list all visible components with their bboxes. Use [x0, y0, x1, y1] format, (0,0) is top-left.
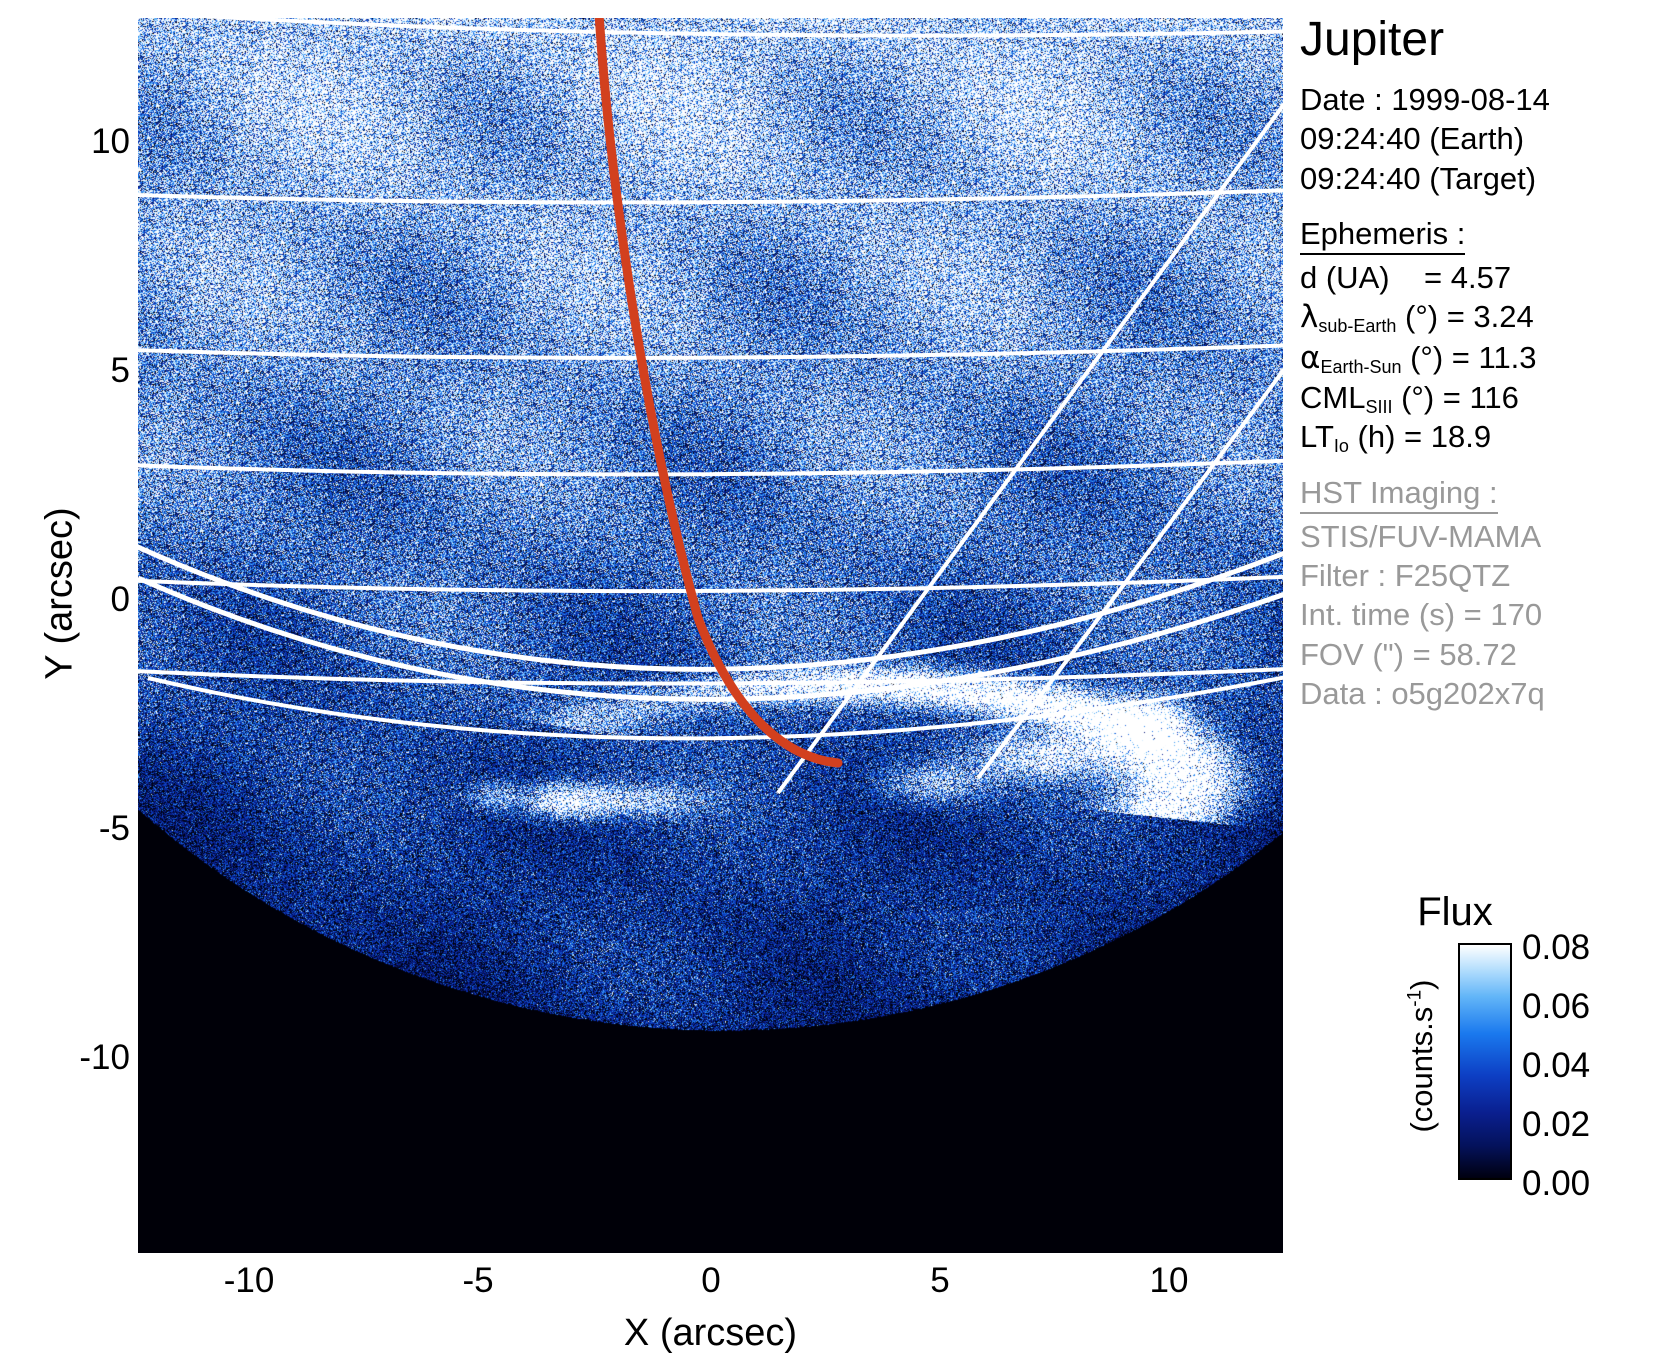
ephemeris-row-lambda: λsub-Earth (°) = 3.24	[1300, 297, 1672, 337]
coordinate-overlay	[138, 18, 1283, 1253]
colorbar-unit-text: (counts.s	[1404, 1007, 1439, 1133]
hst-filter: Filter : F25QTZ	[1300, 556, 1672, 595]
ytick-label-neg10: -10	[79, 1040, 130, 1075]
colorbar-block: Flux (counts.s-1) 0.08 0.06 0.04 0.02 0.…	[1300, 890, 1677, 1210]
colorbar-gradient	[1458, 943, 1512, 1180]
ephemeris-value-cml: = 116	[1443, 380, 1519, 415]
ephemeris-sub-cml: SIII	[1365, 397, 1392, 417]
ephemeris-unit-lt: (h)	[1358, 419, 1396, 454]
ephemeris-row-lt: LTIo (h) = 18.9	[1300, 417, 1672, 456]
colorbar-tick-0.08: 0.08	[1522, 930, 1590, 965]
ephemeris-value-d: = 4.57	[1424, 260, 1511, 295]
x-axis-label: X (arcsec)	[138, 1312, 1283, 1355]
hst-instrument: STIS/FUV-MAMA	[1300, 517, 1672, 556]
colorbar-tick-0.00: 0.00	[1522, 1166, 1590, 1201]
xtick-label-neg10: -10	[189, 1263, 309, 1298]
colorbar-tick-0.04: 0.04	[1522, 1048, 1590, 1083]
xtick-label-0: 0	[651, 1263, 771, 1298]
ephemeris-row-distance: d (UA) = 4.57	[1300, 258, 1672, 297]
hst-integration-time: Int. time (s) = 170	[1300, 595, 1672, 634]
ephemeris-row-alpha: αEarth-Sun (°) = 11.3	[1300, 338, 1672, 378]
xtick-label-neg5: -5	[418, 1263, 538, 1298]
ytick-label-neg5: -5	[99, 811, 130, 846]
hst-imaging-heading: HST Imaging :	[1300, 475, 1498, 514]
colorbar-tick-0.06: 0.06	[1522, 989, 1590, 1024]
image-plot-area	[138, 18, 1283, 1253]
ytick-label-10: 10	[91, 124, 130, 159]
ephemeris-value-alpha: = 11.3	[1452, 340, 1537, 375]
target-name-title: Jupiter	[1300, 14, 1672, 66]
colorbar-unit-exponent: -1	[1405, 990, 1426, 1007]
ephemeris-unit-cml: (°)	[1401, 380, 1434, 415]
ephemeris-symbol-lt: LT	[1300, 419, 1334, 454]
hst-dataset-id: Data : o5g202x7q	[1300, 674, 1672, 713]
ephemeris-symbol-cml: CML	[1300, 380, 1365, 415]
ytick-label-5: 5	[111, 353, 130, 388]
ephemeris-symbol-alpha: α	[1300, 340, 1320, 376]
observation-info-panel: Jupiter Date : 1999-08-14 09:24:40 (Eart…	[1300, 14, 1672, 714]
ephemeris-sub-lambda: sub-Earth	[1318, 316, 1396, 336]
observation-time-target: 09:24:40 (Target)	[1300, 159, 1672, 198]
ephemeris-heading: Ephemeris :	[1300, 216, 1465, 255]
ephemeris-unit-alpha: (°)	[1410, 340, 1443, 375]
ephemeris-sub-lt: Io	[1334, 436, 1349, 456]
hst-fov: FOV (") = 58.72	[1300, 635, 1672, 674]
grid-latitude-line	[138, 458, 1283, 474]
ephemeris-value-lt: = 18.9	[1404, 419, 1491, 454]
ephemeris-unit-lambda: (°)	[1405, 299, 1438, 334]
ephemeris-value-lambda: = 3.24	[1447, 299, 1534, 334]
observation-date: Date : 1999-08-14	[1300, 80, 1672, 119]
io-footprint-trace	[598, 18, 838, 763]
ephemeris-symbol-lambda: λ	[1300, 299, 1318, 335]
ytick-label-0: 0	[111, 582, 130, 617]
ephemeris-row-cml: CMLSIII (°) = 116	[1300, 378, 1672, 417]
grid-latitude-line	[138, 188, 1283, 202]
colorbar-unit-close: )	[1404, 980, 1439, 990]
xtick-label-10: 10	[1109, 1263, 1229, 1298]
grid-latitude-line	[138, 343, 1283, 358]
xtick-label-5: 5	[880, 1263, 1000, 1298]
ephemeris-sub-alpha: Earth-Sun	[1320, 357, 1401, 377]
grid-latitude-line	[138, 18, 1283, 36]
ephemeris-symbol-d: d (UA)	[1300, 260, 1390, 295]
grid-latitude-line	[138, 574, 1283, 591]
y-axis-label: Y (arcsec)	[39, 444, 82, 744]
colorbar-tick-0.02: 0.02	[1522, 1107, 1590, 1142]
colorbar-unit-label: (counts.s-1)	[1404, 926, 1440, 1186]
observation-time-earth: 09:24:40 (Earth)	[1300, 119, 1672, 158]
